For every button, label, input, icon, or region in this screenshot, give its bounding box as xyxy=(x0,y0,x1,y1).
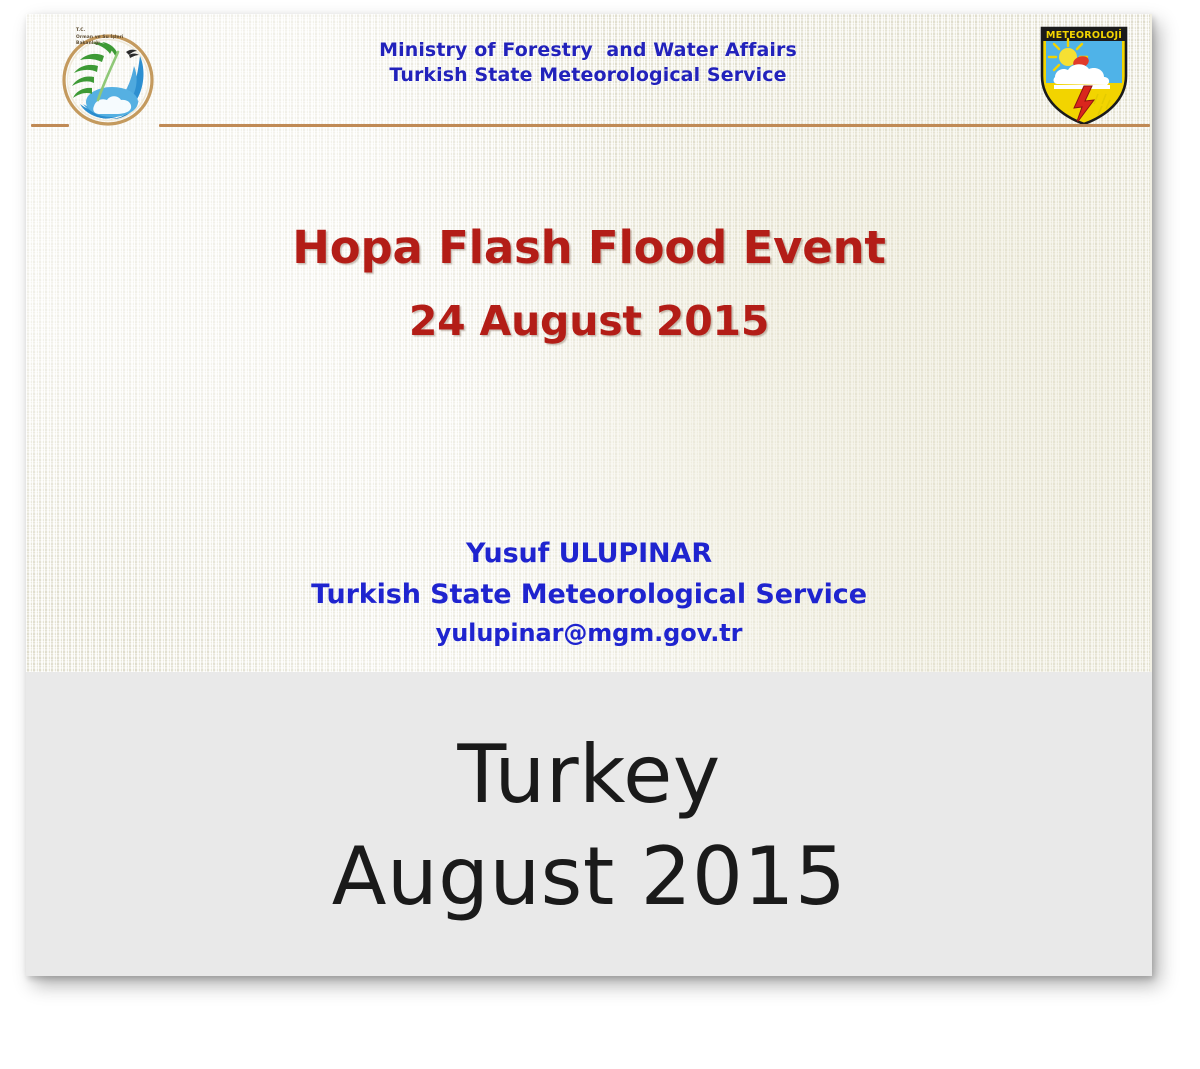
ministry-of-forestry-and-water-affairs-logo: T.C. Orman ve Su İşleri Bakanlığı xyxy=(46,22,166,134)
header-title-block: Ministry of Forestry and Water Affairs T… xyxy=(26,38,1150,89)
presentation-slide[interactable]: T.C. Orman ve Su İşleri Bakanlığı Minist… xyxy=(26,14,1152,976)
caption-country: Turkey xyxy=(26,724,1152,826)
meteoroloji-shield-graphic: METEOROLOJİ xyxy=(1032,22,1136,130)
meteoroloji-shield-logo: METEOROLOJİ xyxy=(1032,22,1136,130)
caption-date: August 2015 xyxy=(26,826,1152,928)
header-rule-left xyxy=(31,124,69,127)
caption-band: Turkey August 2015 xyxy=(26,672,1152,976)
header-line-service: Turkish State Meteorological Service xyxy=(26,63,1150,88)
meteoroloji-wordmark: METEOROLOJİ xyxy=(1046,27,1122,41)
slide-header: T.C. Orman ve Su İşleri Bakanlığı Minist… xyxy=(26,14,1150,144)
ministry-logo-caption: T.C. Orman ve Su İşleri Bakanlığı xyxy=(76,28,150,48)
header-rule-right xyxy=(159,124,1150,127)
caption-text-block: Turkey August 2015 xyxy=(26,724,1152,929)
header-line-ministry: Ministry of Forestry and Water Affairs xyxy=(26,38,1150,63)
